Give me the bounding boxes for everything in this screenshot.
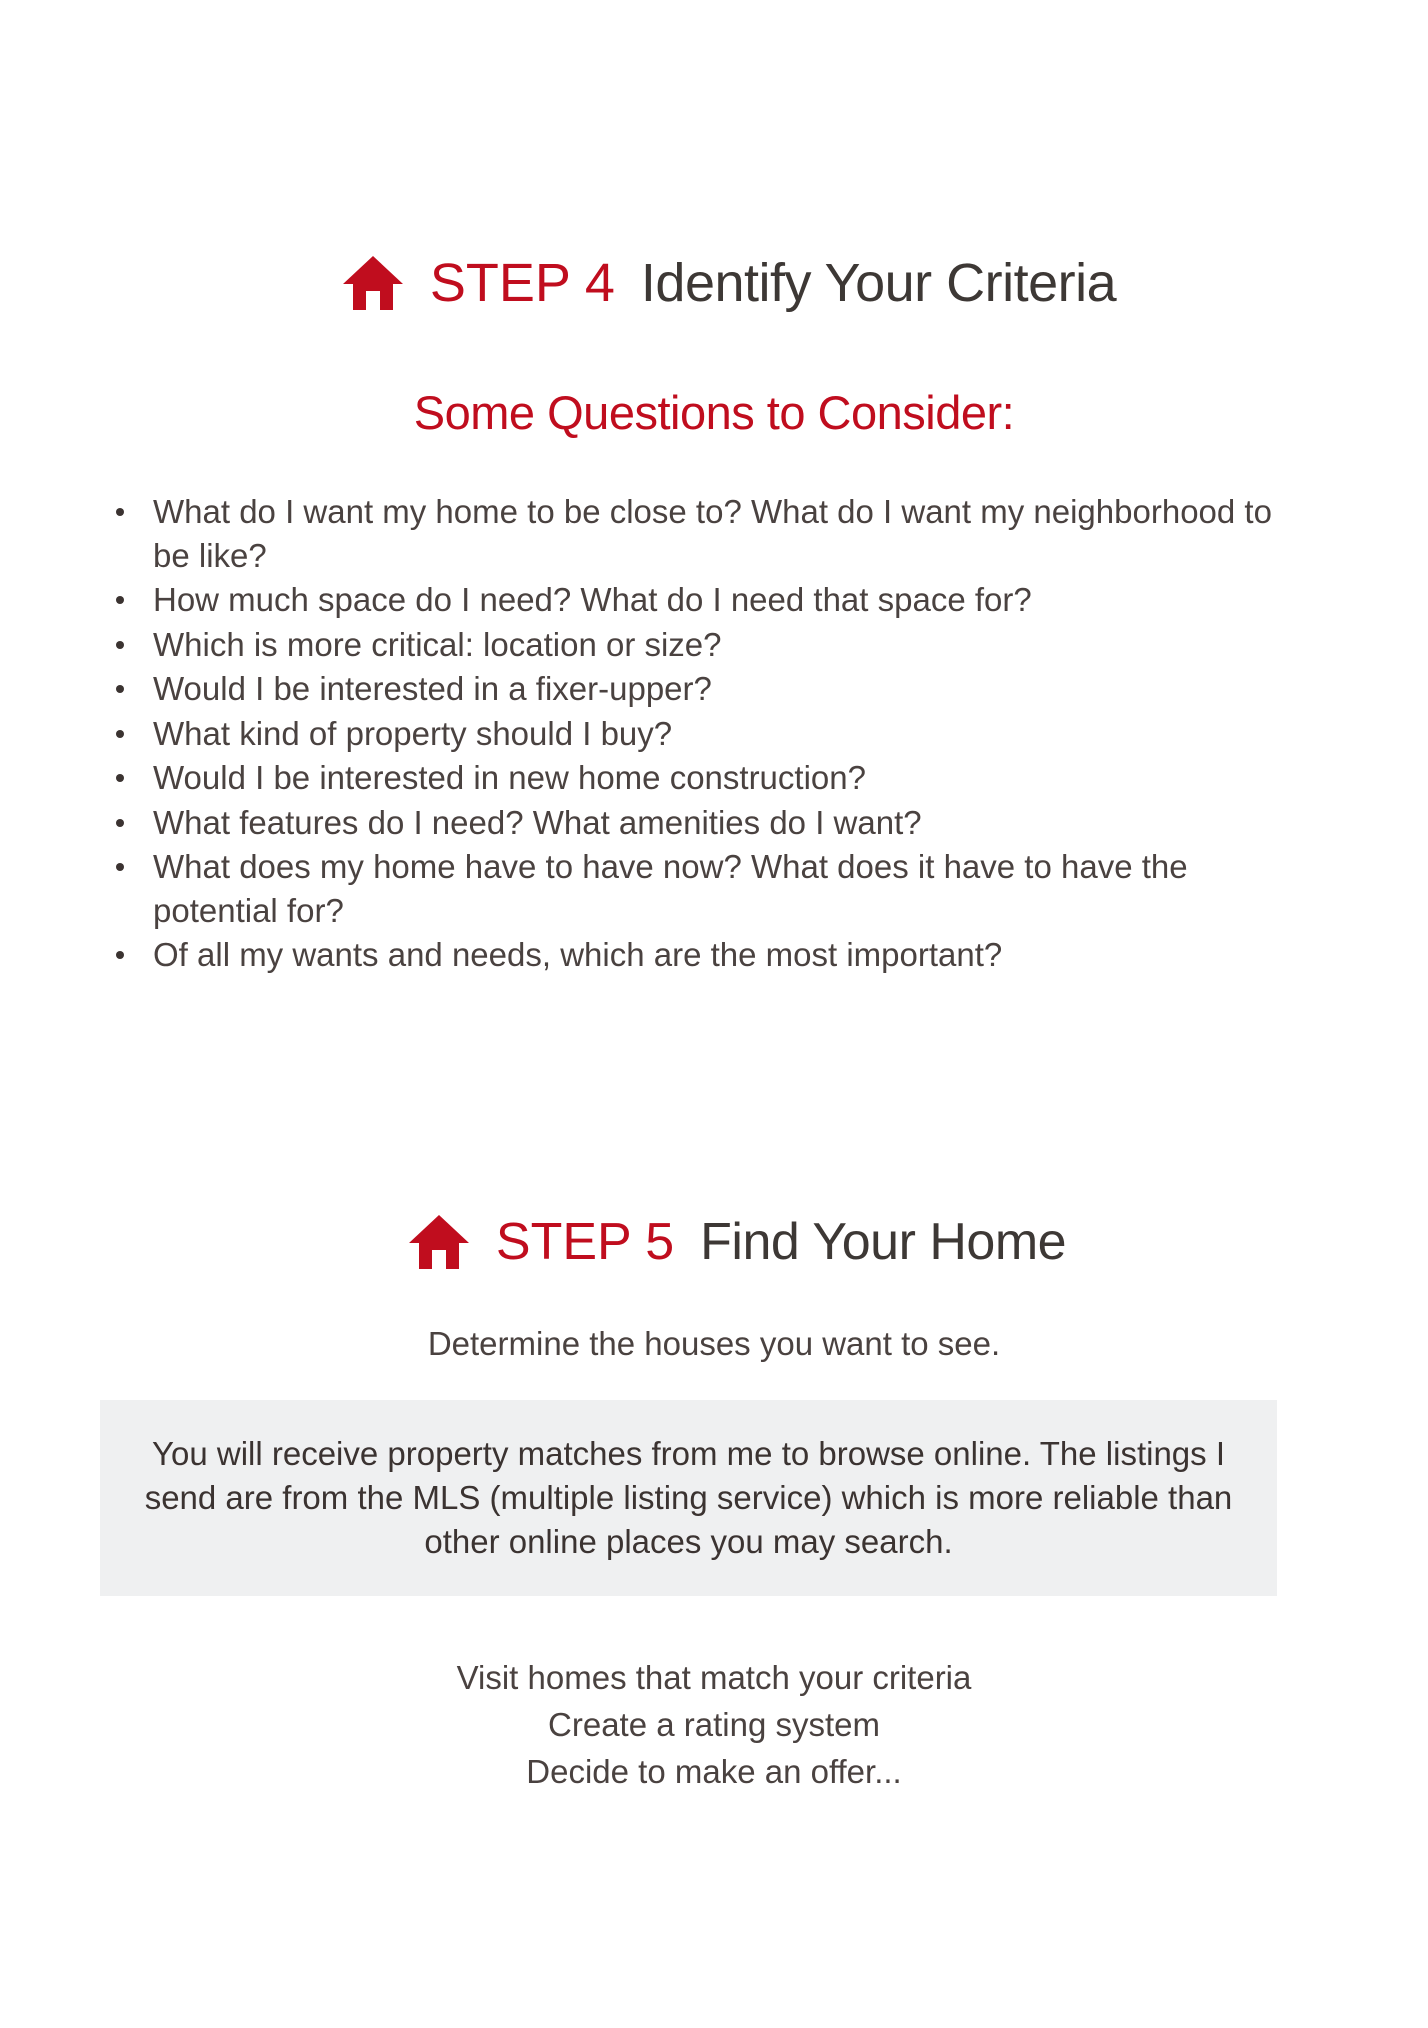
list-item: Of all my wants and needs, which are the…	[108, 933, 1308, 977]
page: STEP 4 Identify Your Criteria Some Quest…	[0, 0, 1428, 2028]
step-4-title: Identify Your Criteria	[641, 252, 1116, 314]
list-item: What does my home have to have now? What…	[108, 845, 1308, 932]
closing-line: Visit homes that match your criteria	[0, 1655, 1428, 1702]
step-5-subtitle: Determine the houses you want to see.	[0, 1325, 1428, 1363]
step-5-title: Find Your Home	[700, 1212, 1066, 1272]
list-item: What features do I need? What amenities …	[108, 801, 1308, 845]
mls-callout-text: You will receive property matches from m…	[126, 1432, 1251, 1565]
house-icon	[342, 255, 404, 311]
step-4-label: STEP 4	[430, 252, 615, 314]
list-item: Would I be interested in new home constr…	[108, 756, 1308, 800]
questions-list: What do I want my home to be close to? W…	[108, 490, 1308, 978]
step-5-heading: STEP 5 Find Your Home	[0, 1212, 1428, 1272]
list-item: How much space do I need? What do I need…	[108, 578, 1308, 622]
step-5-label: STEP 5	[496, 1212, 674, 1272]
list-item: What kind of property should I buy?	[108, 712, 1308, 756]
house-icon	[408, 1214, 470, 1270]
list-item: Would I be interested in a fixer-upper?	[108, 667, 1308, 711]
list-item: Which is more critical: location or size…	[108, 623, 1308, 667]
questions-subheading: Some Questions to Consider:	[0, 385, 1428, 440]
list-item: What do I want my home to be close to? W…	[108, 490, 1308, 577]
closing-line: Decide to make an offer...	[0, 1749, 1428, 1796]
mls-callout-box: You will receive property matches from m…	[100, 1400, 1277, 1596]
closing-lines: Visit homes that match your criteria Cre…	[0, 1655, 1428, 1796]
closing-line: Create a rating system	[0, 1702, 1428, 1749]
step-4-heading: STEP 4 Identify Your Criteria	[0, 252, 1428, 314]
